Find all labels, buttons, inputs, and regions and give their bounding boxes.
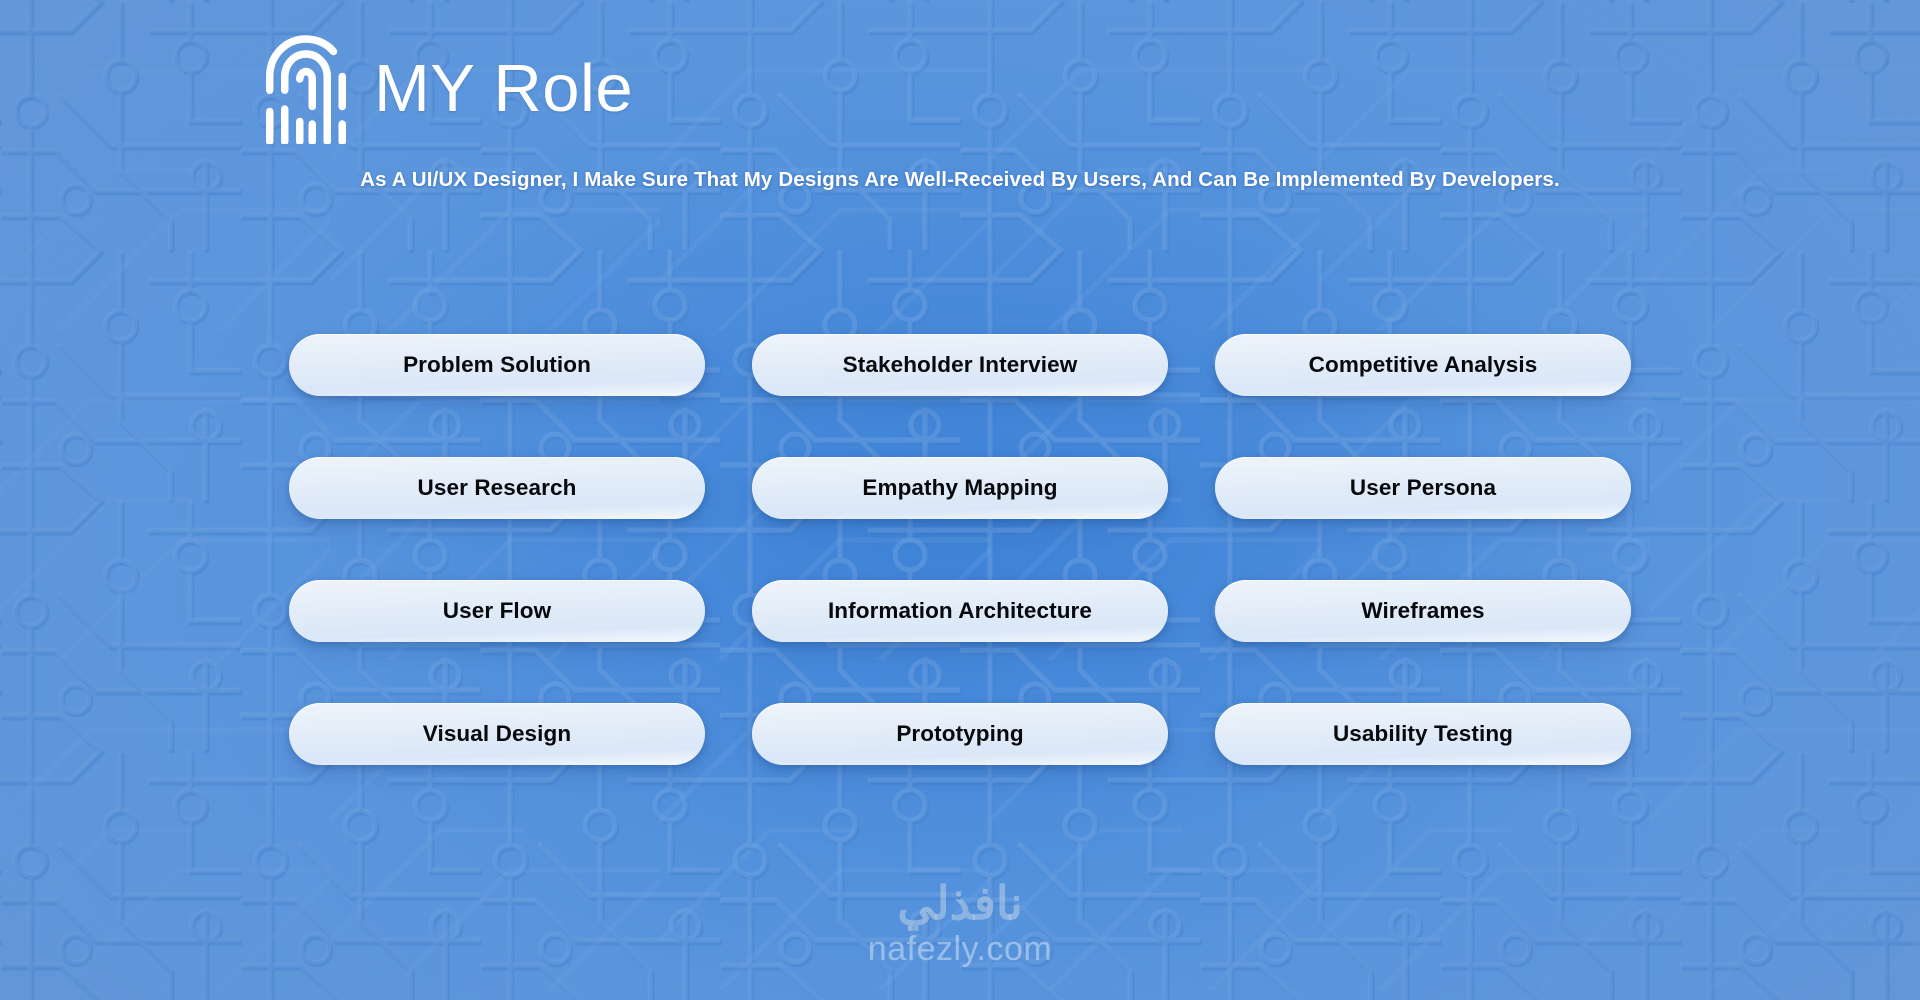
pill-problem-solution[interactable]: Problem Solution: [289, 334, 705, 396]
pill-competitive-analysis[interactable]: Competitive Analysis: [1215, 334, 1631, 396]
pill-visual-design[interactable]: Visual Design: [289, 703, 705, 765]
page-subtitle: As A UI/UX Designer, I Make Sure That My…: [360, 168, 1560, 192]
pill-label: Visual Design: [423, 721, 571, 747]
pill-user-flow[interactable]: User Flow: [289, 580, 705, 642]
pill-label: Information Architecture: [828, 598, 1092, 624]
pill-information-architecture[interactable]: Information Architecture: [752, 580, 1168, 642]
pill-label: Wireframes: [1361, 598, 1484, 624]
pill-label: User Flow: [443, 598, 551, 624]
pill-user-research[interactable]: User Research: [289, 457, 705, 519]
pill-label: Usability Testing: [1333, 721, 1513, 747]
pill-label: Problem Solution: [403, 352, 591, 378]
pill-empathy-mapping[interactable]: Empathy Mapping: [752, 457, 1168, 519]
slide-header: MY Role As A UI/UX Designer, I Make Sure…: [0, 34, 1920, 192]
pill-wireframes[interactable]: Wireframes: [1215, 580, 1631, 642]
pill-label: Empathy Mapping: [862, 475, 1057, 501]
fingerprint-icon: [266, 34, 346, 144]
pill-stakeholder-interview[interactable]: Stakeholder Interview: [752, 334, 1168, 396]
role-pill-grid: Problem Solution Stakeholder Interview C…: [289, 334, 1634, 765]
pill-label: User Persona: [1350, 475, 1496, 501]
pill-label: Prototyping: [896, 721, 1023, 747]
pill-label: Stakeholder Interview: [843, 352, 1078, 378]
page-title: MY Role: [374, 54, 633, 124]
title-row: MY Role: [260, 34, 1660, 144]
pill-label: User Research: [418, 475, 577, 501]
pill-user-persona[interactable]: User Persona: [1215, 457, 1631, 519]
pill-usability-testing[interactable]: Usability Testing: [1215, 703, 1631, 765]
slide-canvas: MY Role As A UI/UX Designer, I Make Sure…: [0, 0, 1920, 1000]
pill-prototyping[interactable]: Prototyping: [752, 703, 1168, 765]
pill-label: Competitive Analysis: [1309, 352, 1538, 378]
